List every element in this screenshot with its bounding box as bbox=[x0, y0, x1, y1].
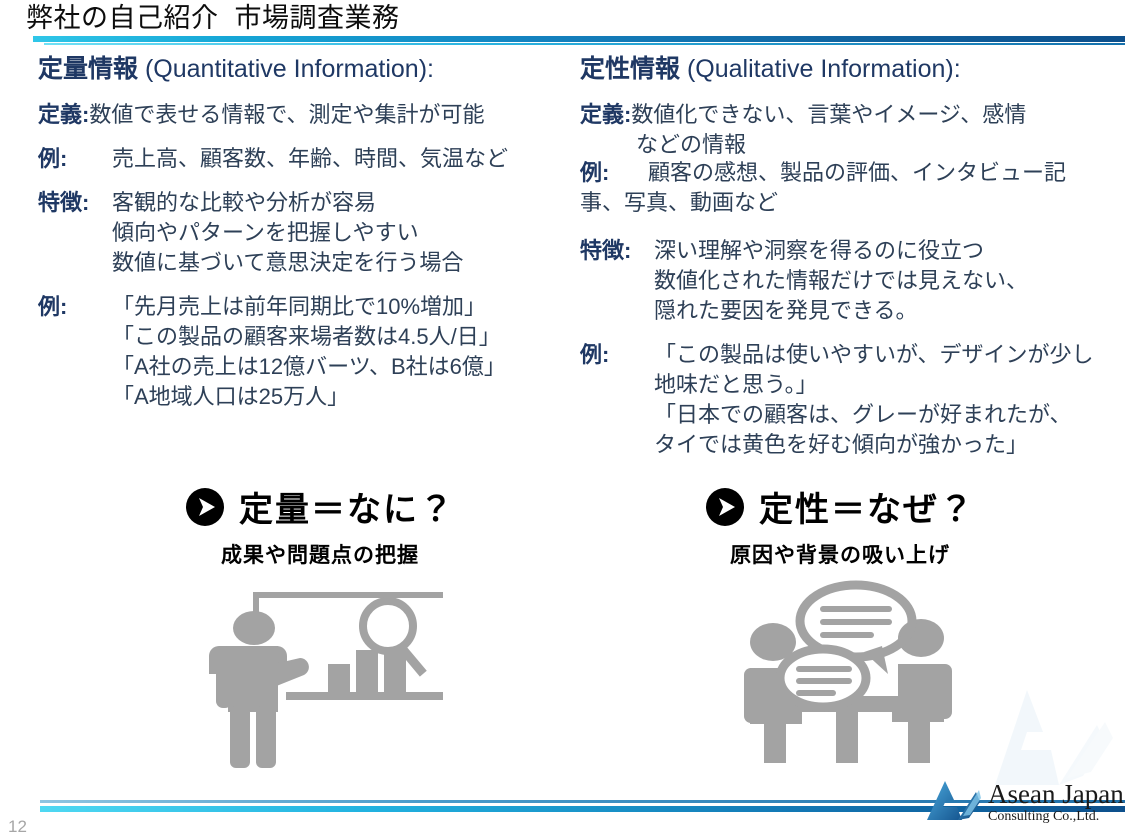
quantitative-quotes-row: 例: 「先月売上は前年同期比で10%増加」 「この製品の顧客来場者数は4.5人/… bbox=[38, 292, 578, 412]
quantitative-heading-en: (Quantitative Information): bbox=[138, 55, 434, 83]
qualitative-example-text: 顧客の感想、製品の評価、インタビュー記 bbox=[648, 158, 1125, 188]
qualitative-callout-headline-row: 定性＝なぜ？ bbox=[640, 482, 1040, 531]
quantitative-quotes-label: 例: bbox=[38, 292, 112, 322]
logo-company-name: Asean Japan bbox=[988, 779, 1124, 809]
play-circle-icon bbox=[705, 487, 745, 527]
quantitative-example-row: 例: 売上高、顧客数、年齢、時間、気温など bbox=[38, 144, 578, 174]
quantitative-features-text: 客観的な比較や分析が容易 傾向やパターンを把握しやすい 数値に基づいて意思決定を… bbox=[112, 188, 578, 278]
qualitative-definition-text: 数値化できない、言葉やイメージ、感情 bbox=[631, 100, 1125, 130]
logo-text-block: Asean Japan Consulting Co.,Ltd. bbox=[988, 781, 1124, 824]
two-people-conversation-icon bbox=[736, 578, 976, 768]
qualitative-definition-row: 定義: 数値化できない、言葉やイメージ、感情 bbox=[580, 100, 1125, 130]
qualitative-features-label: 特徴: bbox=[580, 236, 654, 266]
qualitative-example-label: 例: bbox=[580, 158, 648, 188]
slide-canvas: 弊社の自己紹介 市場調査業務 定量情報 (Quantitative Inform… bbox=[0, 0, 1125, 833]
qualitative-definition-continuation: などの情報 bbox=[580, 130, 1125, 160]
quantitative-example-label: 例: bbox=[38, 144, 112, 174]
quantitative-definition-text: 数値で表せる情報で、測定や集計が可能 bbox=[89, 100, 578, 130]
qualitative-example-continuation: 事、写真、動画など bbox=[580, 188, 1125, 218]
quantitative-definition-row: 定義: 数値で表せる情報で、測定や集計が可能 bbox=[38, 100, 578, 130]
qualitative-quotes-label: 例: bbox=[580, 340, 654, 370]
quantitative-callout-headline-row: 定量＝なに？ bbox=[120, 482, 520, 531]
quantitative-example-text: 売上高、顧客数、年齢、時間、気温など bbox=[112, 144, 578, 174]
header-rule-accent bbox=[44, 43, 1125, 45]
quantitative-quotes-text: 「先月売上は前年同期比で10%増加」 「この製品の顧客来場者数は4.5人/日」 … bbox=[112, 292, 578, 412]
qualitative-features-text: 深い理解や洞察を得るのに役立つ 数値化された情報だけでは見えない、 隠れた要因を… bbox=[654, 236, 1125, 326]
qualitative-features-row: 特徴: 深い理解や洞察を得るのに役立つ 数値化された情報だけでは見えない、 隠れ… bbox=[580, 236, 1125, 326]
header-rule bbox=[33, 36, 1125, 42]
page-number: 12 bbox=[8, 817, 27, 833]
qualitative-quotes-text: 「この製品は使いやすいが、デザインが少し 地味だと思う。」 「日本での顧客は、グ… bbox=[654, 340, 1125, 460]
play-circle-icon bbox=[185, 487, 225, 527]
quantitative-definition-label: 定義: bbox=[38, 100, 89, 130]
qualitative-heading: 定性情報 (Qualitative Information): bbox=[580, 52, 1125, 86]
qualitative-callout-subtitle: 原因や背景の吸い上げ bbox=[640, 539, 1040, 569]
presenter-with-bar-chart-board-icon bbox=[196, 588, 446, 773]
qualitative-definition-label: 定義: bbox=[580, 100, 631, 130]
quantitative-column: 定量情報 (Quantitative Information): 定義: 数値で… bbox=[38, 52, 578, 426]
qualitative-heading-en: (Qualitative Information): bbox=[680, 55, 961, 83]
quantitative-callout-subtitle: 成果や問題点の把握 bbox=[120, 539, 520, 569]
quantitative-callout-headline: 定量＝なに？ bbox=[239, 482, 455, 531]
logo-company-subtitle: Consulting Co.,Ltd. bbox=[988, 810, 1124, 824]
quantitative-callout: 定量＝なに？ 成果や問題点の把握 bbox=[120, 482, 520, 569]
qualitative-heading-jp: 定性情報 bbox=[580, 55, 680, 83]
aj-logo-mark bbox=[925, 778, 981, 827]
quantitative-heading: 定量情報 (Quantitative Information): bbox=[38, 52, 578, 86]
quantitative-features-row: 特徴: 客観的な比較や分析が容易 傾向やパターンを把握しやすい 数値に基づいて意… bbox=[38, 188, 578, 278]
qualitative-callout: 定性＝なぜ？ 原因や背景の吸い上げ bbox=[640, 482, 1040, 569]
quantitative-features-label: 特徴: bbox=[38, 188, 112, 218]
quantitative-heading-jp: 定量情報 bbox=[38, 55, 138, 83]
qualitative-quotes-row: 例: 「この製品は使いやすいが、デザインが少し 地味だと思う。」 「日本での顧客… bbox=[580, 340, 1125, 460]
page-title: 弊社の自己紹介 市場調査業務 bbox=[26, 2, 400, 34]
qualitative-example-row: 例: 顧客の感想、製品の評価、インタビュー記 bbox=[580, 158, 1125, 188]
company-logo: Asean Japan Consulting Co.,Ltd. bbox=[925, 778, 1124, 827]
qualitative-column: 定性情報 (Qualitative Information): 定義: 数値化で… bbox=[580, 52, 1125, 474]
qualitative-callout-headline: 定性＝なぜ？ bbox=[759, 482, 975, 531]
